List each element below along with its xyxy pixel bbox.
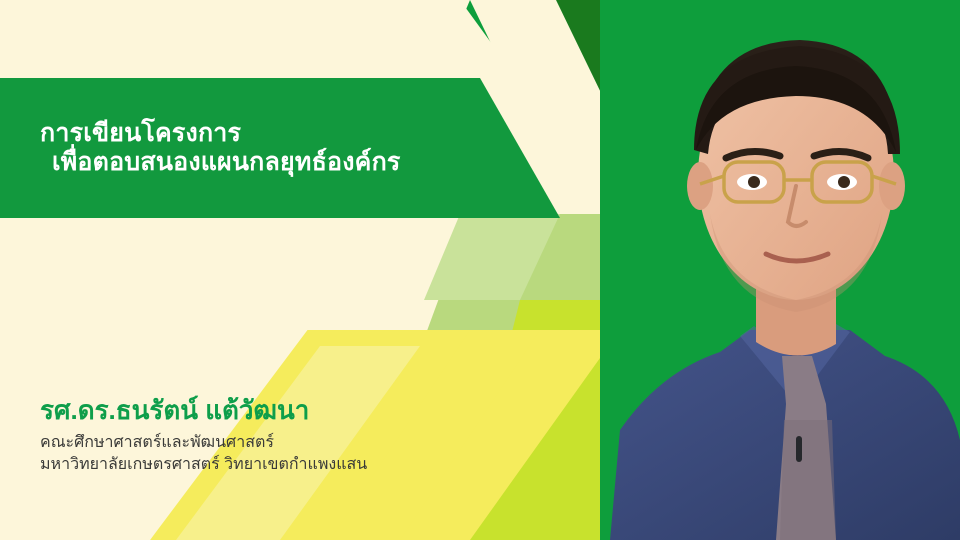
presenter-photo — [600, 0, 960, 540]
pupil-right — [838, 176, 850, 188]
speaker-affiliation-university: มหาวิทยาลัยเกษตรศาสตร์ วิทยาเขตกำแพงแสน — [40, 454, 470, 476]
page-title: การเขียนโครงการ เพื่อตอบสนองแผนกลยุทธ์อง… — [40, 119, 401, 178]
speaker-name: รศ.ดร.ธนรัตน์ แต้วัฒนา — [40, 396, 470, 426]
title-line-1: การเขียนโครงการ — [40, 119, 401, 149]
presenter-ear-right — [879, 162, 905, 210]
lapel-mic — [796, 436, 802, 462]
speaker-credit: รศ.ดร.ธนรัตน์ แต้วัฒนา คณะศึกษาศาสตร์และ… — [40, 396, 470, 476]
speaker-affiliation-faculty: คณะศึกษาศาสตร์และพัฒนศาสตร์ — [40, 432, 470, 454]
pupil-left — [748, 176, 760, 188]
title-banner: การเขียนโครงการ เพื่อตอบสนองแผนกลยุทธ์อง… — [0, 78, 560, 218]
title-slide: การเขียนโครงการ เพื่อตอบสนองแผนกลยุทธ์อง… — [0, 0, 960, 540]
presenter-ear-left — [687, 162, 713, 210]
title-line-2: เพื่อตอบสนองแผนกลยุทธ์องค์กร — [52, 148, 401, 178]
tie-shade — [780, 420, 836, 540]
